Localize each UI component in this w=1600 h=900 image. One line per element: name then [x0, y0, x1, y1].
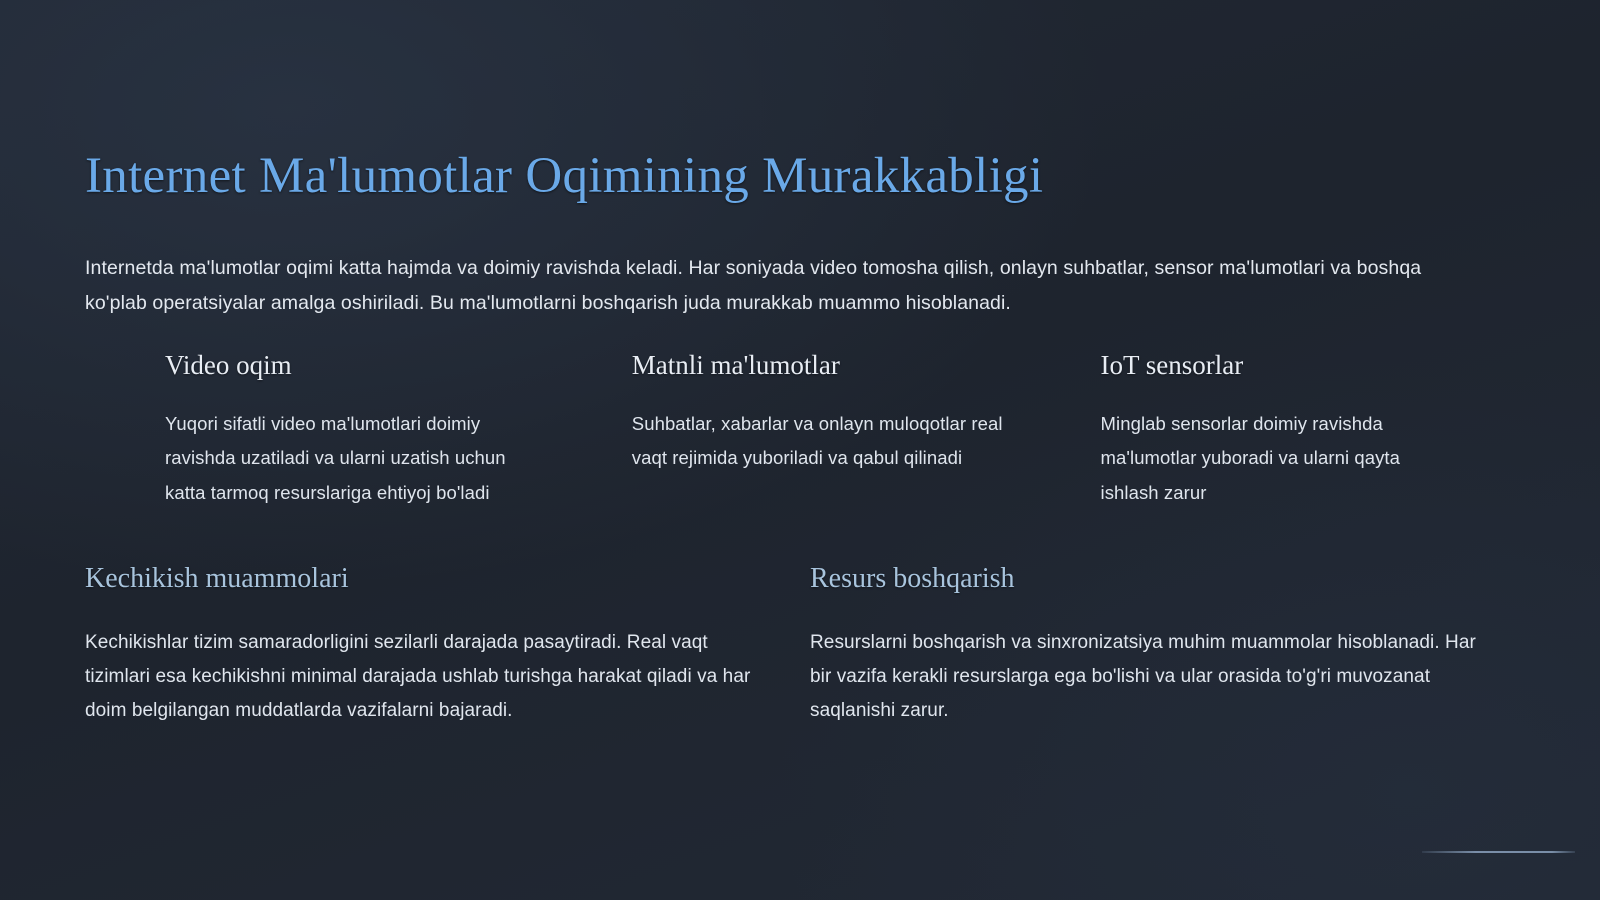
feature-card-title: Video oqim [165, 349, 632, 381]
feature-card-row: Video oqim Yuqori sifatli video ma'lumot… [85, 349, 1515, 511]
feature-card-body: Yuqori sifatli video ma'lumotlari doimiy… [165, 407, 540, 510]
detail-section-row: Kechikish muammolari Kechikishlar tizim … [85, 562, 1515, 728]
detail-section-body: Kechikishlar tizim samaradorligini sezil… [85, 626, 757, 729]
detail-section-title: Kechikish muammolari [85, 562, 810, 596]
feature-card-body: Suhbatlar, xabarlar va onlayn muloqotlar… [632, 407, 1012, 476]
slide-content: Internet Ma'lumotlar Oqimining Murakkabl… [85, 0, 1515, 728]
detail-section: Kechikish muammolari Kechikishlar tizim … [85, 562, 810, 728]
feature-card-title: Matnli ma'lumotlar [632, 349, 1101, 381]
detail-section-title: Resurs boshqarish [810, 562, 1515, 596]
feature-card-title: IoT sensorlar [1101, 349, 1515, 381]
accent-divider-rule [1422, 851, 1575, 853]
page-title: Internet Ma'lumotlar Oqimining Murakkabl… [85, 148, 1515, 204]
feature-card: IoT sensorlar Minglab sensorlar doimiy r… [1101, 349, 1515, 511]
feature-card-body: Minglab sensorlar doimiy ravishda ma'lum… [1101, 407, 1451, 510]
intro-paragraph: Internetda ma'lumotlar oqimi katta hajmd… [85, 251, 1460, 320]
detail-section: Resurs boshqarish Resurslarni boshqarish… [810, 562, 1515, 728]
detail-section-body: Resurslarni boshqarish va sinxronizatsiy… [810, 626, 1502, 729]
feature-card: Matnli ma'lumotlar Suhbatlar, xabarlar v… [632, 349, 1101, 511]
slide-canvas: Internet Ma'lumotlar Oqimining Murakkabl… [0, 0, 1600, 900]
feature-card: Video oqim Yuqori sifatli video ma'lumot… [165, 349, 632, 511]
